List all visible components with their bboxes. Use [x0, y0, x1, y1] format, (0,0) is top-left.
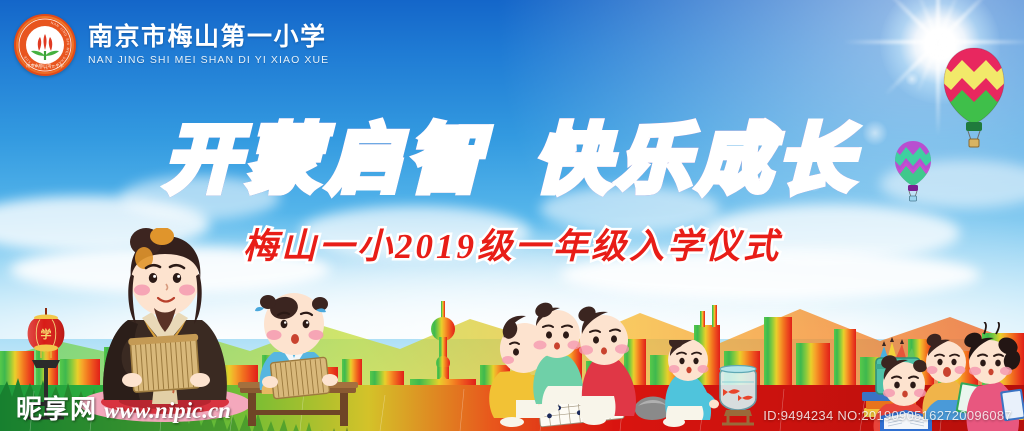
watermark: 昵享网 www.nipic.cn [16, 389, 231, 426]
school-name-block: 南京市梅山第一小学 NAN JING SHI MEI SHAN DI YI XI… [88, 24, 329, 66]
school-emblem-icon: NAN JING SHI MEI SHAN DI YI XIAO XUE 南京市… [14, 14, 76, 76]
watermark-site-name: 昵享网 [16, 389, 97, 426]
subtitle-row: 梅山一小2019级一年级入学仪式 [0, 218, 1024, 269]
svg-text:南京市梅山第一小学: 南京市梅山第一小学 [26, 62, 64, 69]
main-title-part2: 快乐成长 [535, 100, 859, 207]
child-at-desk-icon [232, 286, 362, 426]
goldfish-bowl-icon [658, 340, 768, 428]
school-name-pinyin: NAN JING SHI MEI SHAN DI YI XIAO XUE [88, 55, 329, 66]
school-enrollment-banner: NAN JING SHI MEI SHAN DI YI XIAO XUE 南京市… [0, 0, 1024, 431]
banner-header: NAN JING SHI MEI SHAN DI YI XIAO XUE 南京市… [14, 14, 329, 76]
svg-text:学: 学 [41, 327, 52, 341]
main-title-part1: 开蒙启智 [165, 100, 489, 207]
main-title-row: 开蒙启智 快乐成长 [0, 104, 1024, 202]
image-id-code: ID:9494234 NO:20190905162720096087 [763, 408, 1012, 423]
event-subtitle: 梅山一小2019级一年级入学仪式 [243, 218, 781, 269]
school-name-cn: 南京市梅山第一小学 [88, 24, 329, 50]
watermark-site-url: www.nipic.cn [104, 398, 231, 424]
